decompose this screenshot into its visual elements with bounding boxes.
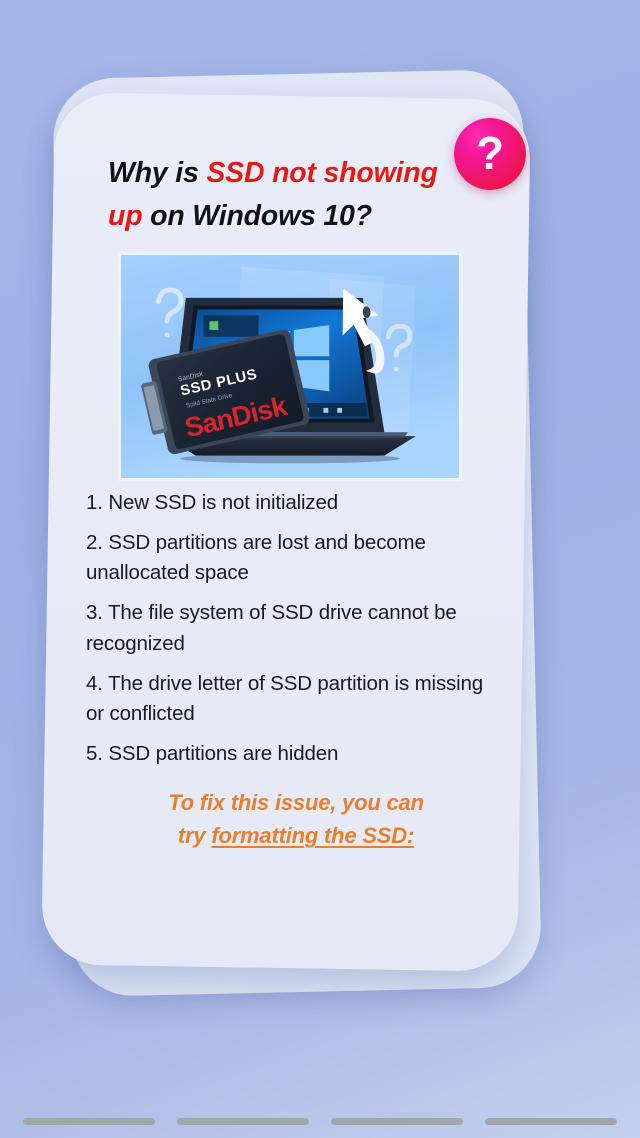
- list-item: 3. The file system of SSD drive cannot b…: [86, 598, 492, 658]
- cta-link[interactable]: formatting the SSD:: [211, 823, 414, 848]
- reasons-list: 1. New SSD is not initialized 2. SSD par…: [86, 488, 492, 779]
- headline-part-2: on Windows 10?: [142, 200, 372, 232]
- hero-image: SanDisk SSD PLUS Solid State Drive SanDi…: [118, 252, 462, 481]
- page-title: Why is SSD not showing up on Windows 10?: [108, 152, 468, 239]
- progress-indicator[interactable]: [0, 1118, 640, 1138]
- list-item: 1. New SSD is not initialized: [86, 488, 492, 518]
- list-item: 4. The drive letter of SSD partition is …: [86, 669, 492, 729]
- call-to-action: To fix this issue, you can try formattin…: [126, 786, 466, 853]
- list-item: 2. SSD partitions are lost and become un…: [86, 528, 492, 588]
- progress-bar-segment[interactable]: [23, 1118, 155, 1125]
- progress-bar-segment[interactable]: [485, 1118, 617, 1125]
- progress-bar-segment[interactable]: [331, 1118, 463, 1125]
- question-mark-icon: ?: [476, 130, 504, 176]
- card-content: ? Why is SSD not showing up on Windows 1…: [0, 0, 640, 1060]
- cta-line-2: try formatting the SSD:: [126, 819, 466, 852]
- cta-line-1: To fix this issue, you can: [126, 786, 466, 819]
- card-stack: ? Why is SSD not showing up on Windows 1…: [0, 0, 640, 1060]
- progress-bar-segment[interactable]: [177, 1118, 309, 1125]
- cta-prefix: try: [178, 823, 211, 848]
- hero-image-illustration: SanDisk SSD PLUS Solid State Drive SanDi…: [121, 255, 459, 478]
- headline-part-1: Why is: [108, 157, 206, 189]
- list-item: 5. SSD partitions are hidden: [86, 739, 492, 769]
